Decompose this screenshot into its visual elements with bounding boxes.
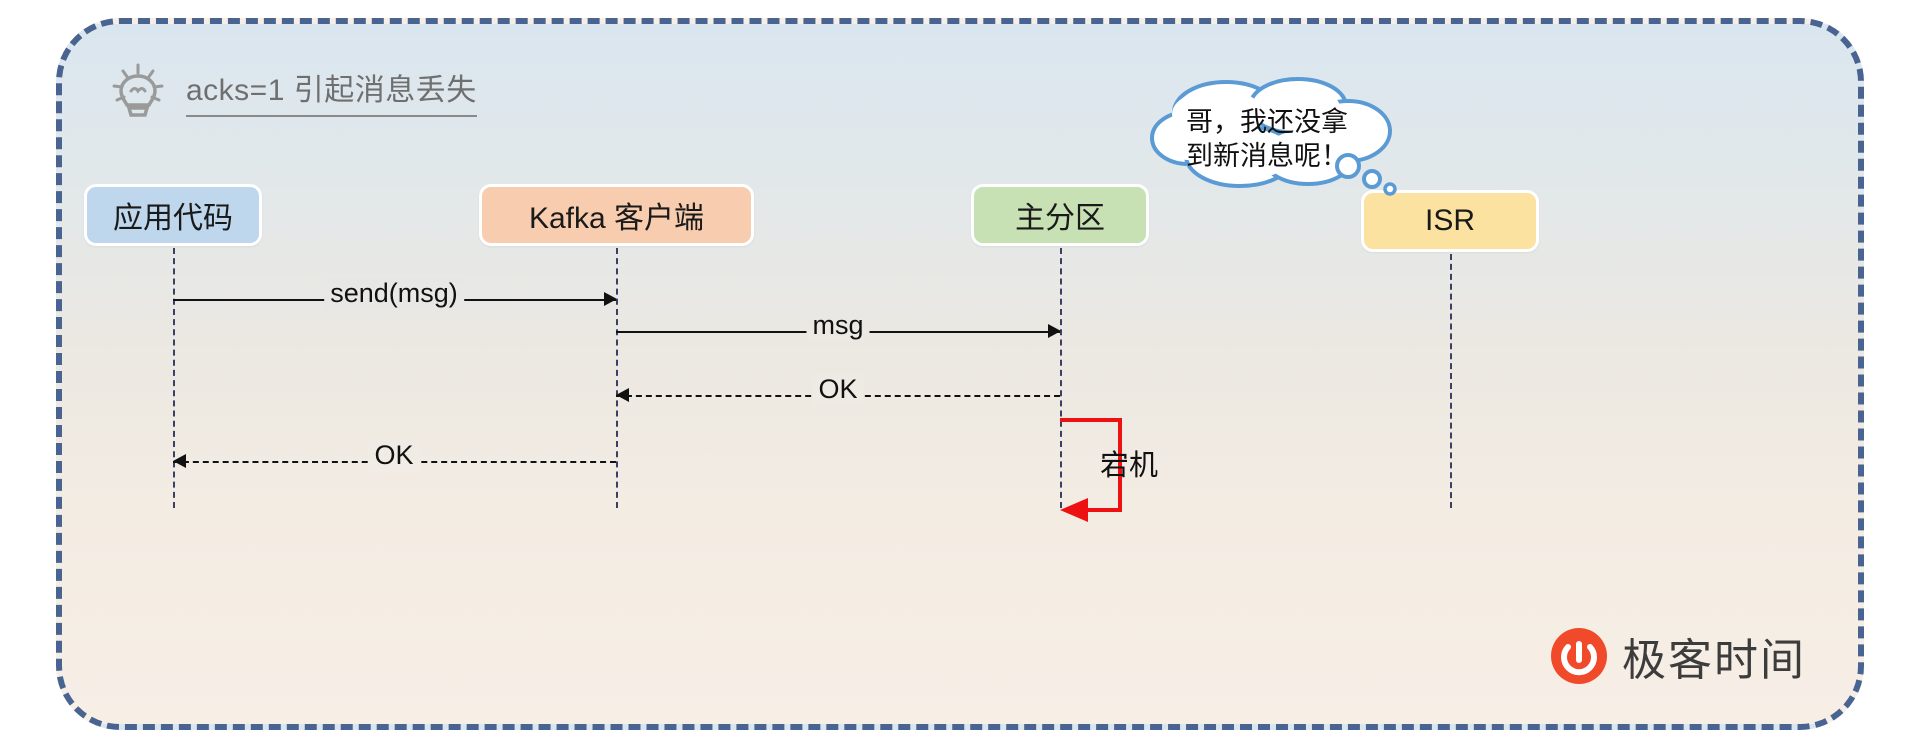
participant-label-leader: 主分区 [1015,193,1105,237]
message-arrow-send-msg [604,292,617,306]
participant-label-client: Kafka 客户端 [529,193,704,237]
participant-label-isr: ISR [1425,204,1475,238]
message-arrow-ok-leader [616,388,629,402]
participant-box-leader[interactable]: 主分区 [971,184,1149,246]
brand-logo: 极客时间 [1550,624,1806,688]
participant-label-app: 应用代码 [113,193,233,237]
participant-box-app[interactable]: 应用代码 [84,184,262,246]
page-title: acks=1 引起消息丢失 [186,65,477,117]
lifeline-client [616,248,618,508]
brand-name: 极客时间 [1622,624,1806,688]
message-label-ok-client: OK [368,440,419,471]
message-label-msg: msg [806,310,869,341]
participant-box-client[interactable]: Kafka 客户端 [479,184,754,246]
crash-label: 宕机 [1100,442,1158,484]
geek-time-logo-icon [1550,627,1608,685]
lifeline-app [173,248,175,508]
message-label-ok-leader: OK [812,374,863,405]
thought-bubble-dots-icon [1334,152,1404,202]
diagram-title-row: acks=1 引起消息丢失 [110,62,477,120]
message-arrow-msg [1048,324,1061,338]
diagram-canvas: acks=1 引起消息丢失 应用代码 Kafka 客户端 主分区 ISR sen… [0,0,1920,752]
lifeline-isr [1450,254,1452,508]
thought-bubble-line-1: 哥，我还没拿 [1186,106,1386,140]
diagram-frame: acks=1 引起消息丢失 应用代码 Kafka 客户端 主分区 ISR sen… [56,18,1864,730]
message-label-send-msg: send(msg) [324,278,464,309]
lightbulb-icon [110,62,166,120]
message-arrow-ok-client [173,454,186,468]
